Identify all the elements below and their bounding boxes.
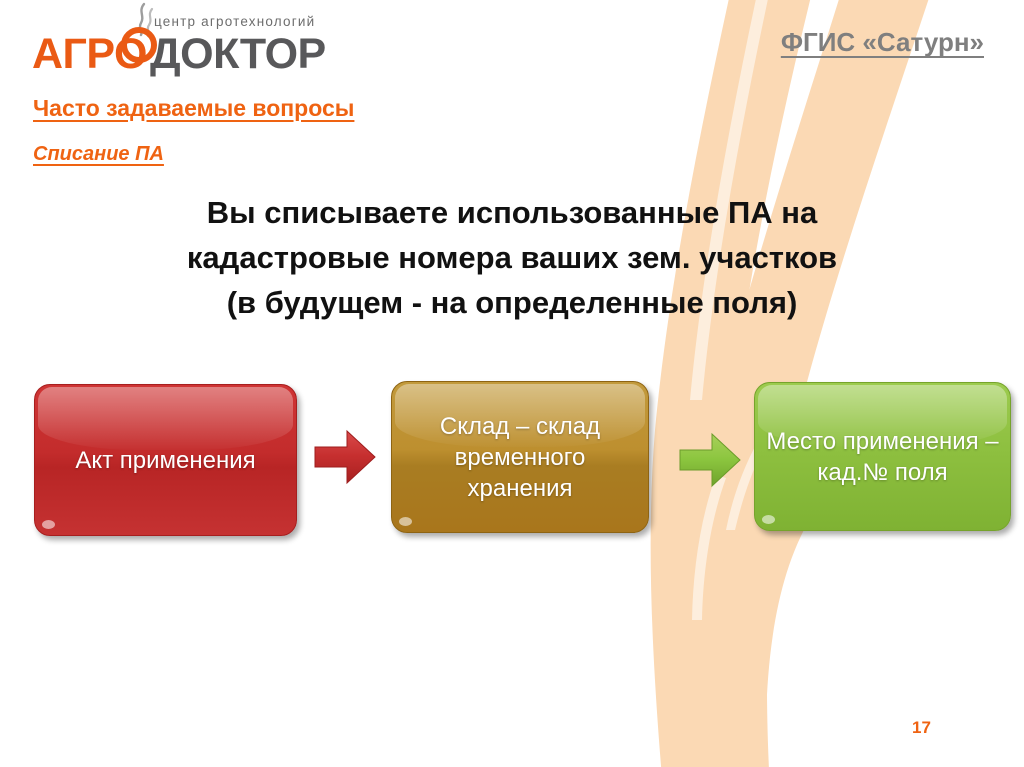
box-gloss xyxy=(38,387,293,450)
box-highlight-nub xyxy=(399,517,412,526)
statement-line-1: Вы списываете использованные ПА на xyxy=(0,190,1024,235)
arrow-right-red-icon[interactable] xyxy=(313,427,379,489)
logo-tagline: центр агротехнологий xyxy=(154,14,315,29)
flame-circle-icon xyxy=(114,0,170,66)
flow-step-field[interactable]: Место применения – кад.№ поля xyxy=(754,382,1011,531)
statement-line-2: кадастровые номера ваших зем. участков xyxy=(0,235,1024,280)
page-number: 17 xyxy=(912,718,931,738)
statement-block: Вы списываете использованные ПА на кадас… xyxy=(0,190,1024,325)
flow-step-field-label: Место применения – кад.№ поля xyxy=(755,426,1010,488)
flow-step-warehouse-label: Склад – склад временного хранения xyxy=(392,411,648,504)
faq-heading: Часто задаваемые вопросы xyxy=(33,95,354,122)
statement-line-3: (в будущем - на определенные поля) xyxy=(0,280,1024,325)
brand-logo[interactable]: центр агротехнологий АГРО ДОКТОР xyxy=(32,14,332,84)
box-highlight-nub xyxy=(762,515,775,524)
arrow-right-green-icon[interactable] xyxy=(678,430,744,492)
flow-step-act[interactable]: Акт применения xyxy=(34,384,297,536)
logo-word-doktor: ДОКТОР xyxy=(150,30,326,78)
slide-canvas: центр агротехнологий АГРО ДОКТОР ФГИС «С… xyxy=(0,0,1024,767)
ribbon-highlight-2 xyxy=(692,475,726,620)
section-subtitle: Списание ПА xyxy=(33,143,164,166)
box-highlight-nub xyxy=(42,520,55,529)
flow-step-act-label: Акт применения xyxy=(65,445,265,476)
flow-step-warehouse[interactable]: Склад – склад временного хранения xyxy=(391,381,649,533)
page-title: ФГИС «Сатурн» xyxy=(781,27,984,58)
